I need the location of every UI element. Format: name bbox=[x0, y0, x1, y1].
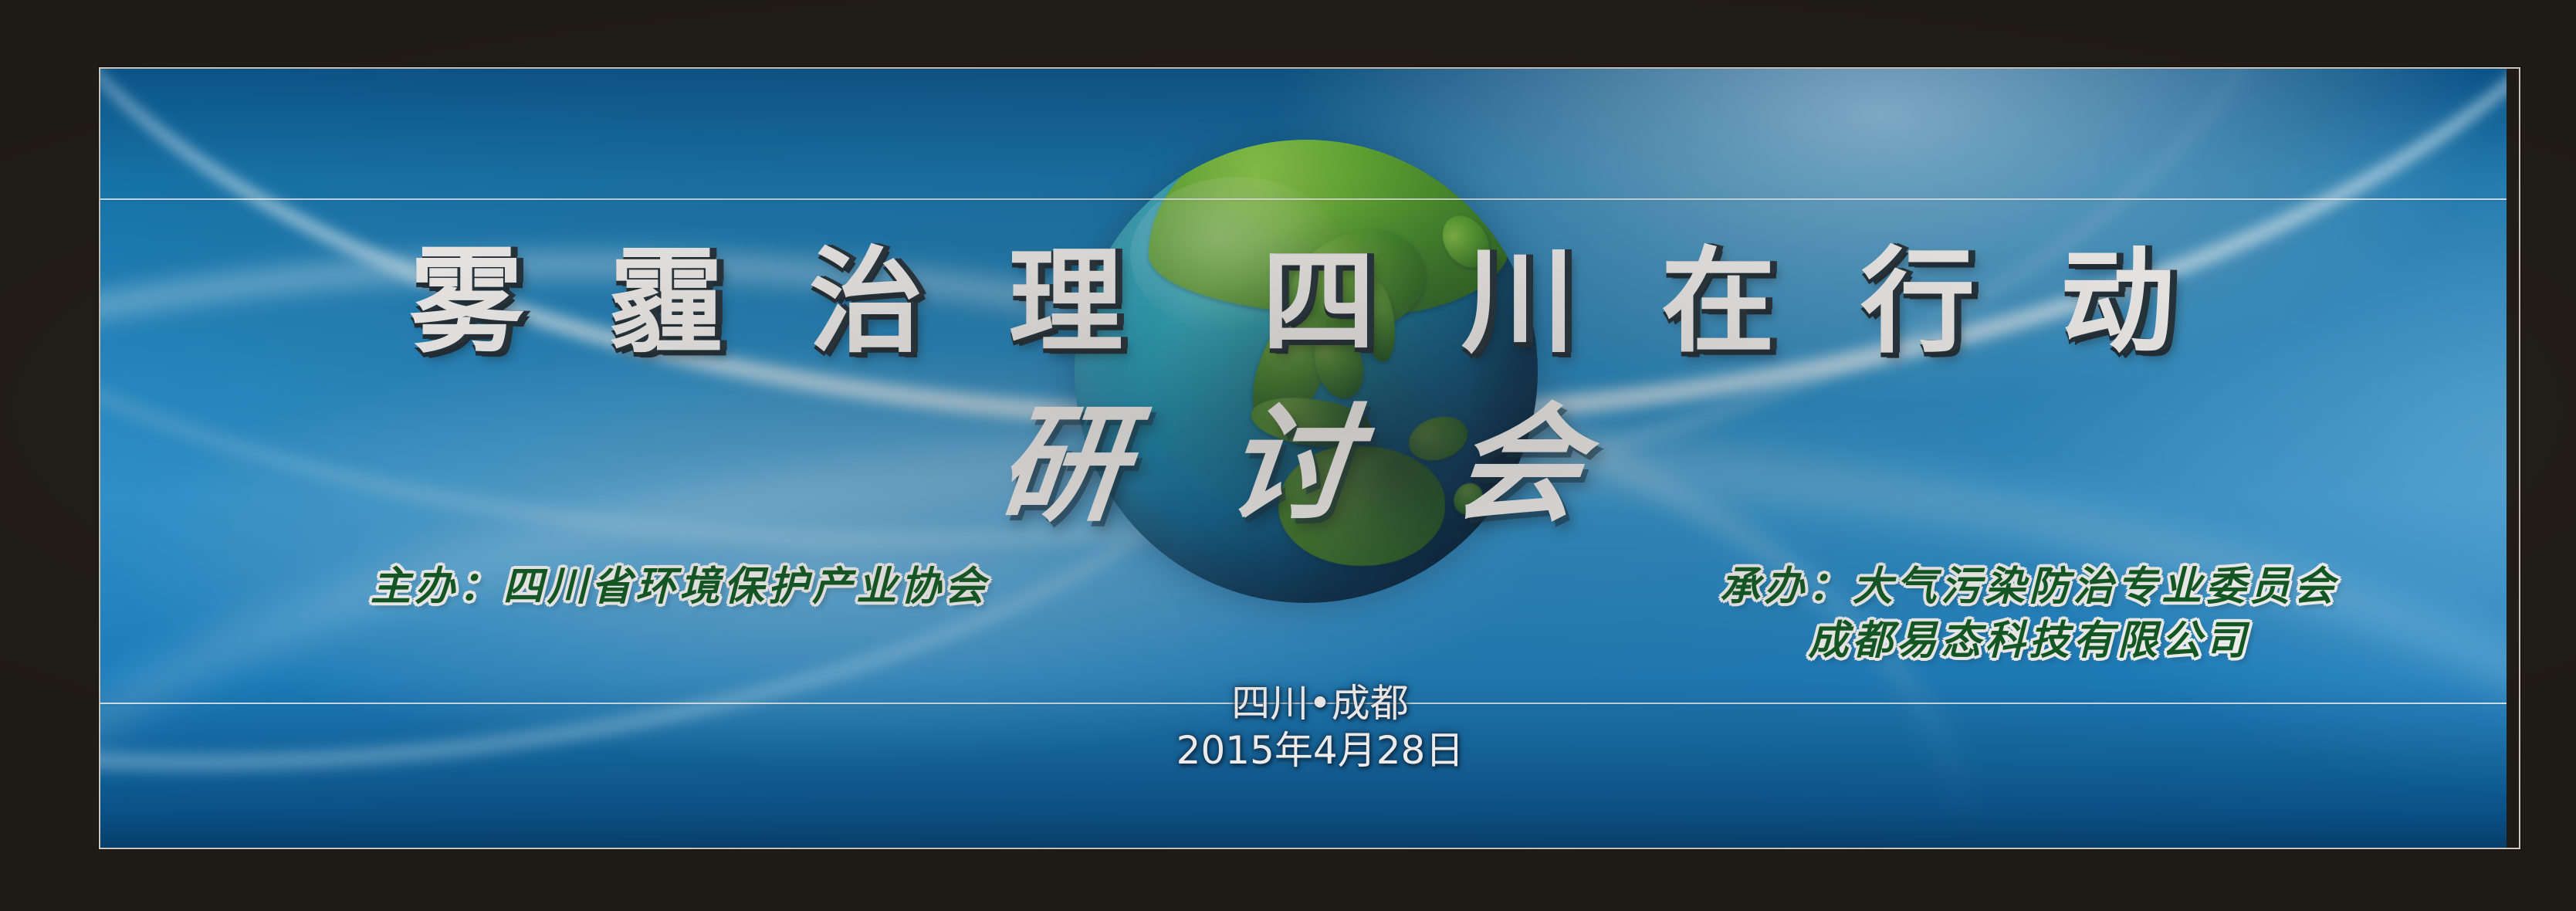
page-title: 雾 霾 治 理四 川 在 行 动 bbox=[100, 245, 2507, 359]
organizer-right-line2: 成都易态科技有限公司 bbox=[1720, 614, 2338, 668]
title-right: 四 川 在 行 动 bbox=[1261, 235, 2198, 368]
backdrop-wall: 雾 霾 治 理四 川 在 行 动 研 讨 会 主办：四川省环境保护产业协会 承办… bbox=[0, 0, 2576, 911]
organizer-left: 主办：四川省环境保护产业协会 bbox=[371, 560, 989, 614]
banner-cloth: 雾 霾 治 理四 川 在 行 动 研 讨 会 主办：四川省环境保护产业协会 承办… bbox=[100, 69, 2507, 848]
panel-seam-top bbox=[100, 198, 2507, 200]
banner-frame: 雾 霾 治 理四 川 在 行 动 研 讨 会 主办：四川省环境保护产业协会 承办… bbox=[99, 67, 2520, 849]
organizer-right-line1: 承办：大气污染防治专业委员会 bbox=[1720, 563, 2338, 610]
event-place-date: 四川•成都 2015年4月28日 bbox=[1104, 680, 1536, 774]
event-date: 2015年4月28日 bbox=[1104, 727, 1536, 774]
event-location: 四川•成都 bbox=[1104, 680, 1536, 727]
subtitle-calligraphy: 研 讨 会 bbox=[865, 401, 1743, 528]
organizer-right: 承办：大气污染防治专业委员会 成都易态科技有限公司 bbox=[1720, 560, 2338, 668]
title-left: 雾 霾 治 理 bbox=[409, 235, 1146, 368]
